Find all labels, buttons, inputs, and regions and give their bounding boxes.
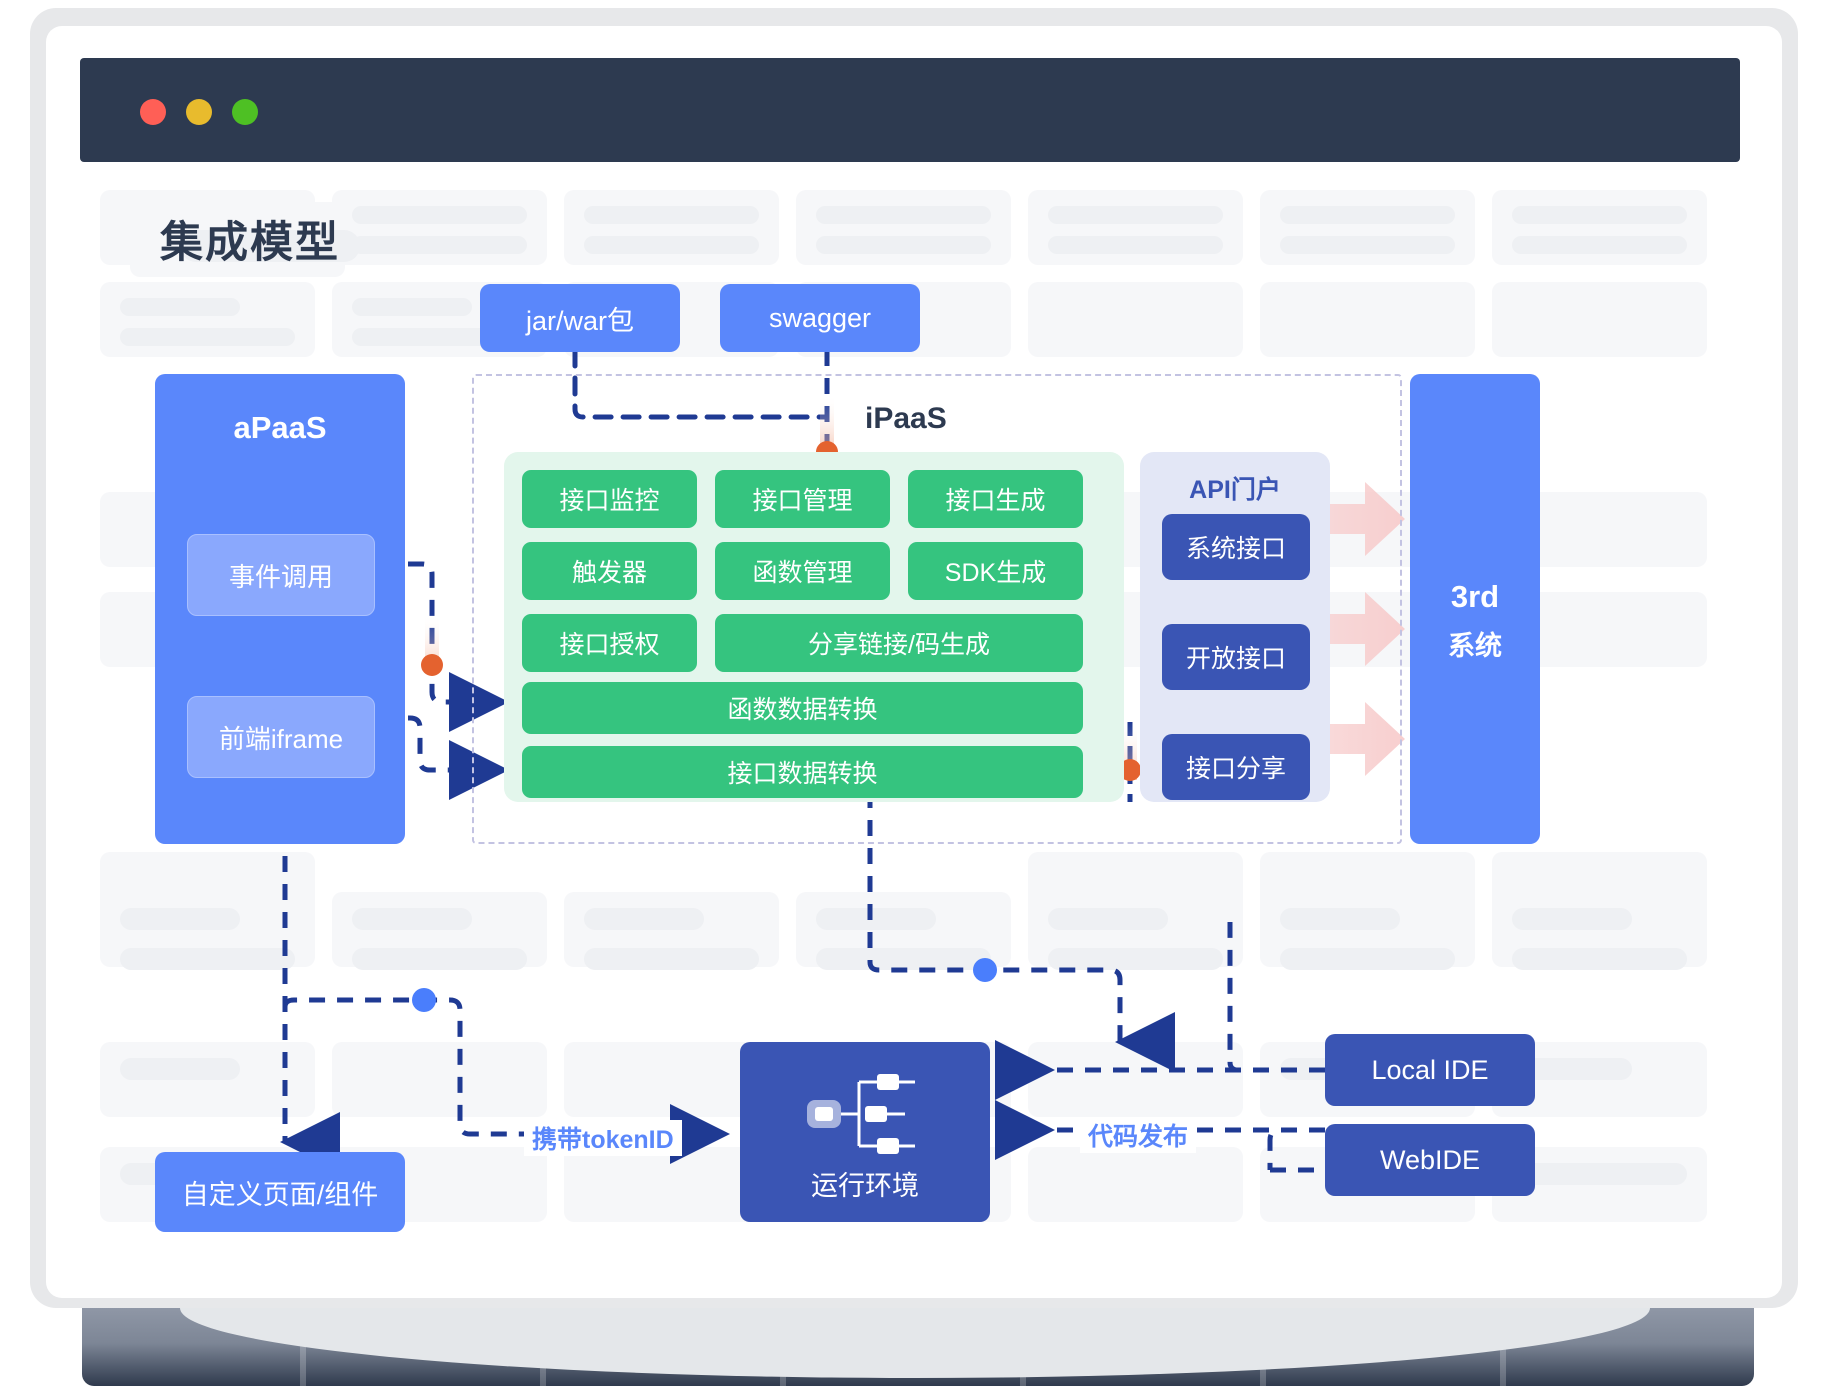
third-party-system-node[interactable]: 3rd 系统 — [1410, 374, 1540, 844]
capability-label: 接口监控 — [559, 481, 659, 517]
local-ide-node[interactable]: Local IDE — [1325, 1034, 1535, 1106]
capability-interface-management[interactable]: 接口管理 — [715, 470, 890, 528]
capability-interface-authorization[interactable]: 接口授权 — [522, 614, 697, 672]
swagger-node[interactable]: swagger — [720, 284, 920, 352]
capability-function-data-transform[interactable]: 函数数据转换 — [522, 682, 1083, 734]
browser-titlebar — [80, 58, 1740, 162]
capability-trigger[interactable]: 触发器 — [522, 542, 697, 600]
web-ide-label: WebIDE — [1380, 1145, 1480, 1176]
capability-share-link-qr[interactable]: 分享链接/码生成 — [715, 614, 1083, 672]
jar-war-package-node[interactable]: jar/war包 — [480, 284, 680, 352]
capability-label: 函数管理 — [752, 553, 852, 589]
api-item-label: 开放接口 — [1186, 639, 1286, 675]
runtime-environment-node[interactable]: 运行环境 — [740, 1042, 990, 1222]
api-gateway-title: API门户 — [1140, 470, 1330, 506]
api-item-system-interface[interactable]: 系统接口 — [1162, 514, 1310, 580]
web-ide-node[interactable]: WebIDE — [1325, 1124, 1535, 1196]
apaas-item-event-call[interactable]: 事件调用 — [187, 534, 375, 616]
capability-label: 接口管理 — [752, 481, 852, 517]
browser-window: 集成模型 — [46, 26, 1782, 1298]
api-item-interface-share[interactable]: 接口分享 — [1162, 734, 1310, 800]
page-title: 集成模型 — [160, 208, 340, 270]
api-item-label: 系统接口 — [1186, 529, 1286, 565]
screenshot-root: 集成模型 — [0, 0, 1830, 1397]
api-item-open-interface[interactable]: 开放接口 — [1162, 624, 1310, 690]
capability-label: 接口生成 — [945, 481, 1045, 517]
runtime-label: 运行环境 — [740, 1164, 990, 1203]
custom-page-label: 自定义页面/组件 — [182, 1173, 379, 1212]
minimize-icon[interactable] — [186, 99, 212, 125]
apaas-item-frontend-iframe[interactable]: 前端iframe — [187, 696, 375, 778]
capability-label: 函数数据转换 — [727, 690, 877, 726]
apaas-item-label: 事件调用 — [229, 557, 333, 594]
third-party-line1: 3rd — [1410, 579, 1540, 615]
capability-label: SDK生成 — [945, 553, 1046, 589]
api-item-label: 接口分享 — [1186, 749, 1286, 785]
capability-sdk-generation[interactable]: SDK生成 — [908, 542, 1083, 600]
capability-label: 接口授权 — [559, 625, 659, 661]
capability-label: 分享链接/码生成 — [808, 625, 990, 661]
custom-page-component-node[interactable]: 自定义页面/组件 — [155, 1152, 405, 1232]
capability-function-management[interactable]: 函数管理 — [715, 542, 890, 600]
capability-interface-data-transform[interactable]: 接口数据转换 — [522, 746, 1083, 798]
apaas-panel[interactable]: aPaaS 事件调用 前端iframe — [155, 374, 405, 844]
close-icon[interactable] — [140, 99, 166, 125]
edge-label-code-publish: 代码发布 — [1080, 1117, 1196, 1153]
capability-label: 触发器 — [572, 553, 647, 589]
node-tree-icon — [805, 1068, 925, 1160]
capability-interface-monitor[interactable]: 接口监控 — [522, 470, 697, 528]
ipaas-title: iPaaS — [865, 402, 947, 436]
edge-label-token-id: 携带tokenID — [524, 1120, 682, 1156]
swagger-label: swagger — [769, 303, 871, 334]
third-party-line2: 系统 — [1410, 624, 1540, 663]
apaas-item-label: 前端iframe — [219, 719, 343, 756]
page-canvas: 集成模型 — [80, 162, 1740, 1298]
capability-interface-generation[interactable]: 接口生成 — [908, 470, 1083, 528]
maximize-icon[interactable] — [232, 99, 258, 125]
apaas-title: aPaaS — [155, 410, 405, 446]
jar-war-package-label: jar/war包 — [526, 299, 634, 338]
capability-label: 接口数据转换 — [727, 754, 877, 790]
local-ide-label: Local IDE — [1371, 1055, 1488, 1086]
